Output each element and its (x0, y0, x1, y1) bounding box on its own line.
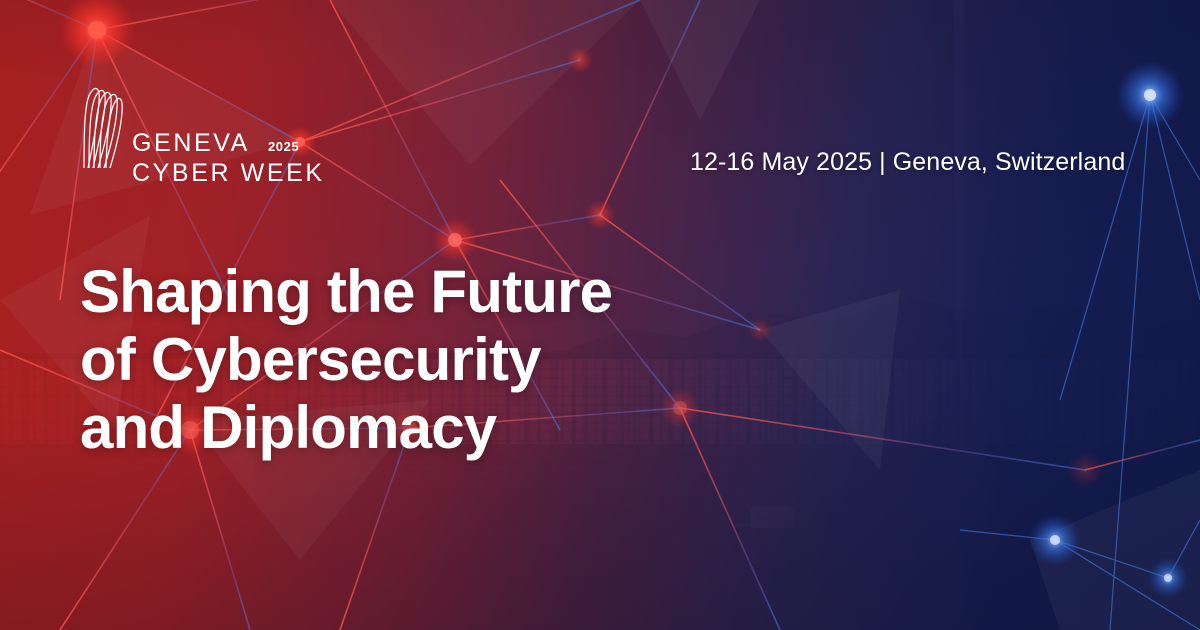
headline-line-3: and Diplomacy (80, 394, 840, 462)
logo-line-geneva: GENEVA (132, 128, 250, 158)
geneva-cyber-week-logo[interactable]: GENEVA 2025 CYBER WEEK (74, 84, 334, 192)
logo-wordmark: GENEVA 2025 CYBER WEEK (132, 128, 325, 188)
logo-year: 2025 (268, 139, 299, 154)
event-dateline: 12-16 May 2025 | Geneva, Switzerland (690, 148, 1125, 177)
fountain-arcs-mark-icon (74, 84, 132, 168)
headline-line-1: Shaping the Future (80, 258, 840, 326)
headline-line-2: of Cybersecurity (80, 326, 840, 394)
event-banner: GENEVA 2025 CYBER WEEK 12-16 May 2025 | … (0, 0, 1200, 630)
logo-line-cyber-week: CYBER WEEK (132, 158, 325, 188)
page-title: Shaping the Future of Cybersecurity and … (80, 258, 840, 462)
